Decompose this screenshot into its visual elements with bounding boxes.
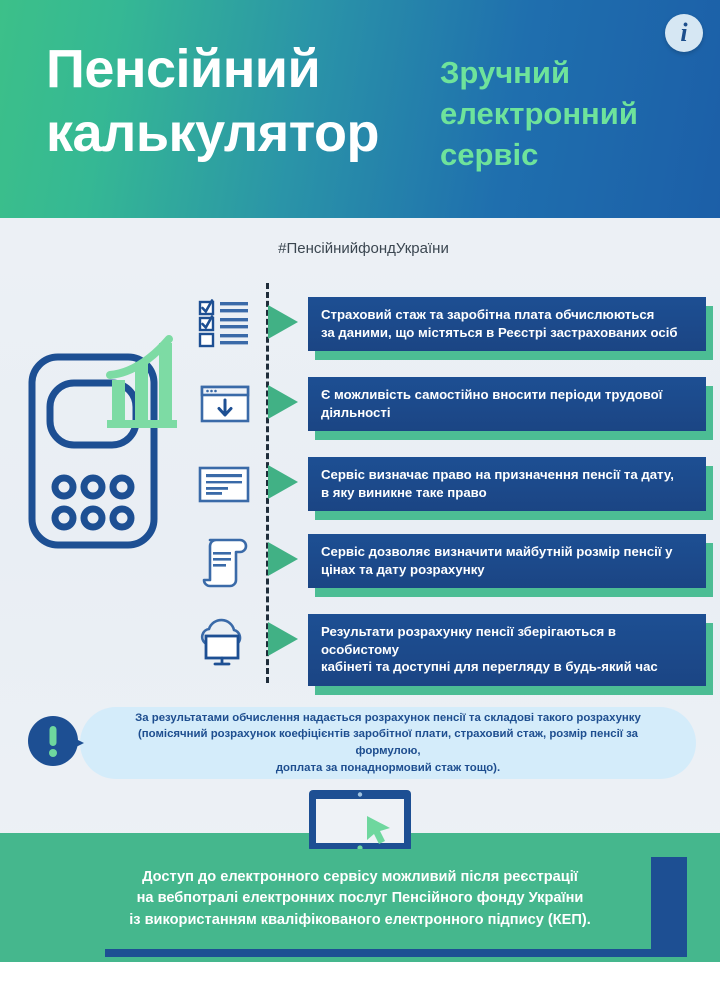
feature-text: Сервіс визначає право на призначення пен…: [308, 457, 706, 511]
note-text: За результатами обчислення надається роз…: [80, 710, 696, 776]
page-bottom-margin: [0, 962, 720, 985]
calculator-illustration: [25, 335, 200, 560]
footer-box: Доступ до електронного сервісу можливий …: [69, 849, 651, 949]
browser-download-icon: [196, 377, 254, 431]
row-arrow-icon: [268, 622, 298, 656]
header-subtitle: Зручний електронний сервіс: [440, 52, 690, 176]
row-arrow-icon: [268, 542, 298, 576]
feature-callout: Страховий стаж та заробітна плата обчисл…: [308, 297, 706, 351]
hashtag: #ПенсійнийфондУкраїни: [0, 240, 720, 257]
scroll-document-icon: [196, 534, 254, 588]
exclamation-icon: [24, 712, 86, 774]
row-arrow-icon: [268, 305, 298, 339]
note-callout: За результатами обчислення надається роз…: [24, 707, 696, 779]
cloud-monitor-icon: [196, 614, 254, 668]
info-icon[interactable]: i: [665, 14, 703, 52]
checklist-icon: [196, 297, 254, 351]
card-document-icon: [196, 457, 254, 511]
row-arrow-icon: [268, 385, 298, 419]
info-icon-glyph: i: [665, 14, 703, 52]
feature-text: Є можливість самостійно вносити періоди …: [308, 377, 706, 431]
footer-text: Доступ до електронного сервісу можливий …: [129, 867, 591, 930]
feature-callout: Сервіс визначає право на призначення пен…: [308, 457, 706, 511]
note-bubble: За результатами обчислення надається роз…: [80, 707, 696, 779]
feature-text: Страховий стаж та заробітна плата обчисл…: [308, 297, 706, 351]
row-arrow-icon: [268, 465, 298, 499]
infographic-page: Пенсійний калькулятор Зручний електронни…: [0, 0, 720, 985]
feature-callout: Є можливість самостійно вносити періоди …: [308, 377, 706, 431]
hashtag-text: #ПенсійнийфондУкраїни: [271, 240, 449, 257]
footer-callout: Доступ до електронного сервісу можливий …: [69, 849, 651, 949]
feature-callout: Результати розрахунку пенсії зберігаютьс…: [308, 614, 706, 686]
feature-text: Результати розрахунку пенсії зберігаютьс…: [308, 614, 706, 686]
page-title: Пенсійний калькулятор: [46, 38, 436, 165]
feature-text: Сервіс дозволяє визначити майбутній розм…: [308, 534, 706, 588]
header-banner: Пенсійний калькулятор Зручний електронни…: [0, 0, 720, 218]
feature-callout: Сервіс дозволяє визначити майбутній розм…: [308, 534, 706, 588]
